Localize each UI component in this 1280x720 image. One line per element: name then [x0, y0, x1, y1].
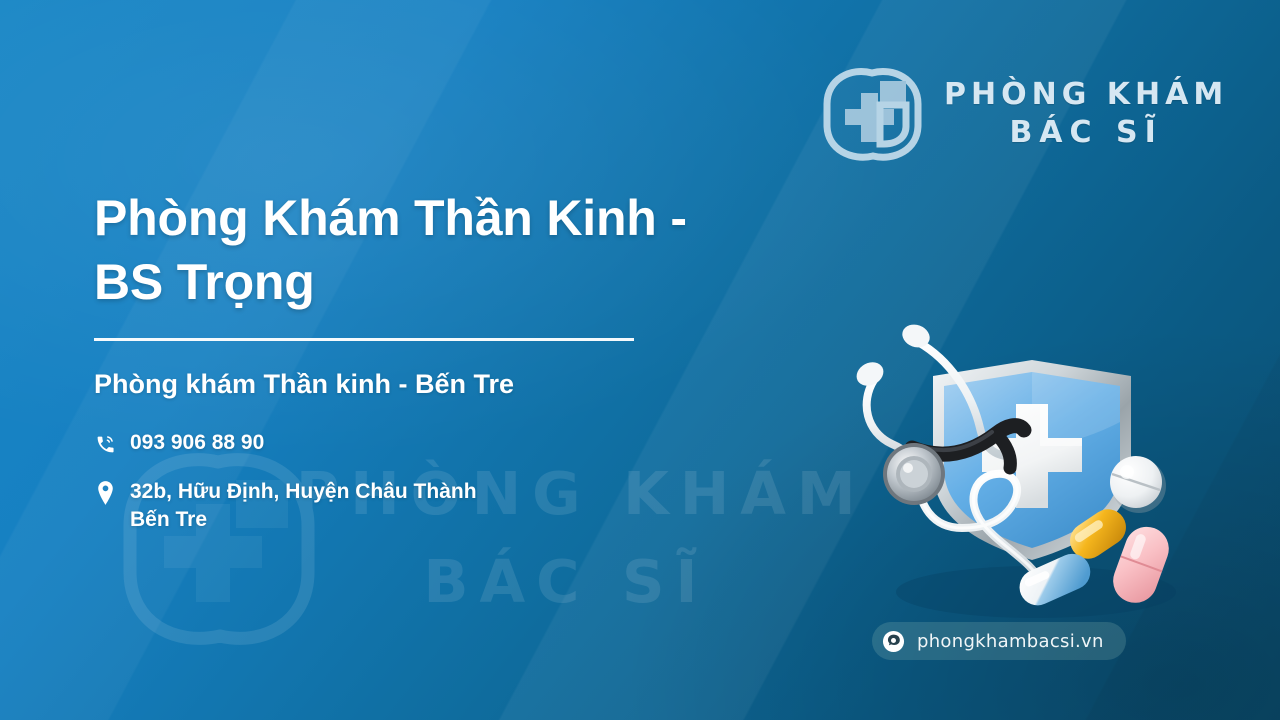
- phone-call-icon: [94, 430, 116, 458]
- brand-logo-text: PHÒNG KHÁM BÁC SĨ: [944, 76, 1228, 152]
- globe-logo-icon: [882, 630, 905, 653]
- medical-shield-stethoscope-pills-illustration: [846, 322, 1186, 622]
- brand-logo-line-1: PHÒNG KHÁM: [944, 76, 1228, 114]
- clinic-title: Phòng Khám Thần Kinh - BS Trọng: [94, 186, 754, 314]
- contact-phone-row[interactable]: 093 906 88 90: [94, 429, 774, 458]
- contact-address-label: 32b, Hữu Định, Huyện Châu Thành Bến Tre: [130, 478, 477, 534]
- watermark-line-2: BÁC SĨ: [296, 534, 836, 630]
- clinic-subtitle: Phòng khám Thần kinh - Bến Tre: [94, 367, 774, 401]
- brand-logo-line-2: BÁC SĨ: [944, 114, 1228, 152]
- website-badge[interactable]: phongkhambacsi.vn: [872, 622, 1126, 660]
- contact-address-row[interactable]: 32b, Hữu Định, Huyện Châu Thành Bến Tre: [94, 478, 774, 534]
- clinic-info-block: Phòng Khám Thần Kinh - BS Trọng Phòng kh…: [94, 186, 774, 534]
- website-url-label: phongkhambacsi.vn: [917, 631, 1104, 652]
- contact-list: 093 906 88 90 32b, Hữu Định, Huyện Châu …: [94, 429, 774, 534]
- map-pin-icon: [94, 479, 116, 507]
- clinic-banner: PHÒNG KHÁM BÁC SĨ PHÒNG KHÁM BÁC SĨ Phòn…: [0, 0, 1280, 720]
- brand-logo[interactable]: PHÒNG KHÁM BÁC SĨ: [818, 58, 1178, 170]
- title-divider: [94, 338, 634, 341]
- contact-phone-label: 093 906 88 90: [130, 429, 264, 457]
- medical-cross-shield-icon: [818, 64, 926, 164]
